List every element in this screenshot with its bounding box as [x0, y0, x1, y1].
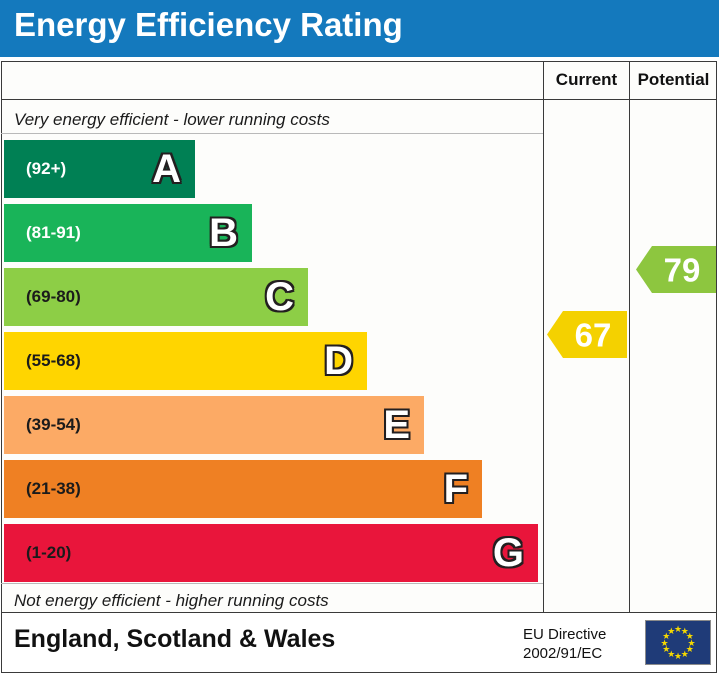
band-range-c: (69-80) — [26, 287, 81, 307]
title-bar: Energy Efficiency Rating — [0, 0, 719, 57]
rating-value-current: 67 — [565, 318, 621, 351]
caption-inefficient: Not energy efficient - higher running co… — [14, 591, 329, 611]
band-letter-c: C — [265, 277, 294, 317]
footer-region-label: England, Scotland & Wales — [14, 625, 335, 654]
band-range-d: (55-68) — [26, 351, 81, 371]
eu-star-icon: ★ — [667, 627, 675, 635]
column-divider-potential — [629, 61, 630, 613]
rating-badge-current: 67 — [547, 311, 627, 358]
footer-directive: EU Directive 2002/91/EC — [523, 625, 606, 663]
band-letter-d: D — [324, 341, 353, 381]
band-range-g: (1-20) — [26, 543, 71, 563]
rating-value-potential: 79 — [654, 253, 710, 286]
band-range-a: (92+) — [26, 159, 66, 179]
band-range-e: (39-54) — [26, 415, 81, 435]
epc-certificate: Energy Efficiency Rating Current Potenti… — [0, 0, 719, 675]
eu-flag-icon: ★★★★★★★★★★★★ — [645, 620, 711, 665]
column-header-potential: Potential — [629, 61, 717, 99]
band-bar-b: (81-91)B — [4, 204, 252, 262]
band-bar-f: (21-38)F — [4, 460, 482, 518]
footer-directive-line1: EU Directive — [523, 625, 606, 644]
column-divider-current — [543, 61, 544, 613]
band-bar-a: (92+)A — [4, 140, 195, 198]
band-bar-c: (69-80)C — [4, 268, 308, 326]
band-bar-d: (55-68)D — [4, 332, 367, 390]
band-range-f: (21-38) — [26, 479, 81, 499]
column-header-row: Current Potential — [1, 61, 717, 100]
column-header-current: Current — [543, 61, 629, 99]
page-title: Energy Efficiency Rating — [14, 6, 403, 44]
band-bar-e: (39-54)E — [4, 396, 424, 454]
caption-rule-bottom — [1, 583, 543, 584]
band-letter-g: G — [493, 533, 524, 573]
band-letter-e: E — [383, 405, 410, 445]
band-bar-g: (1-20)G — [4, 524, 538, 582]
band-letter-b: B — [209, 213, 238, 253]
band-letter-a: A — [152, 149, 181, 189]
rating-badge-potential: 79 — [636, 246, 716, 293]
band-range-b: (81-91) — [26, 223, 81, 243]
caption-rule-top — [1, 133, 543, 134]
caption-efficient: Very energy efficient - lower running co… — [14, 110, 330, 130]
footer-directive-line2: 2002/91/EC — [523, 644, 606, 663]
band-letter-f: F — [444, 469, 468, 509]
